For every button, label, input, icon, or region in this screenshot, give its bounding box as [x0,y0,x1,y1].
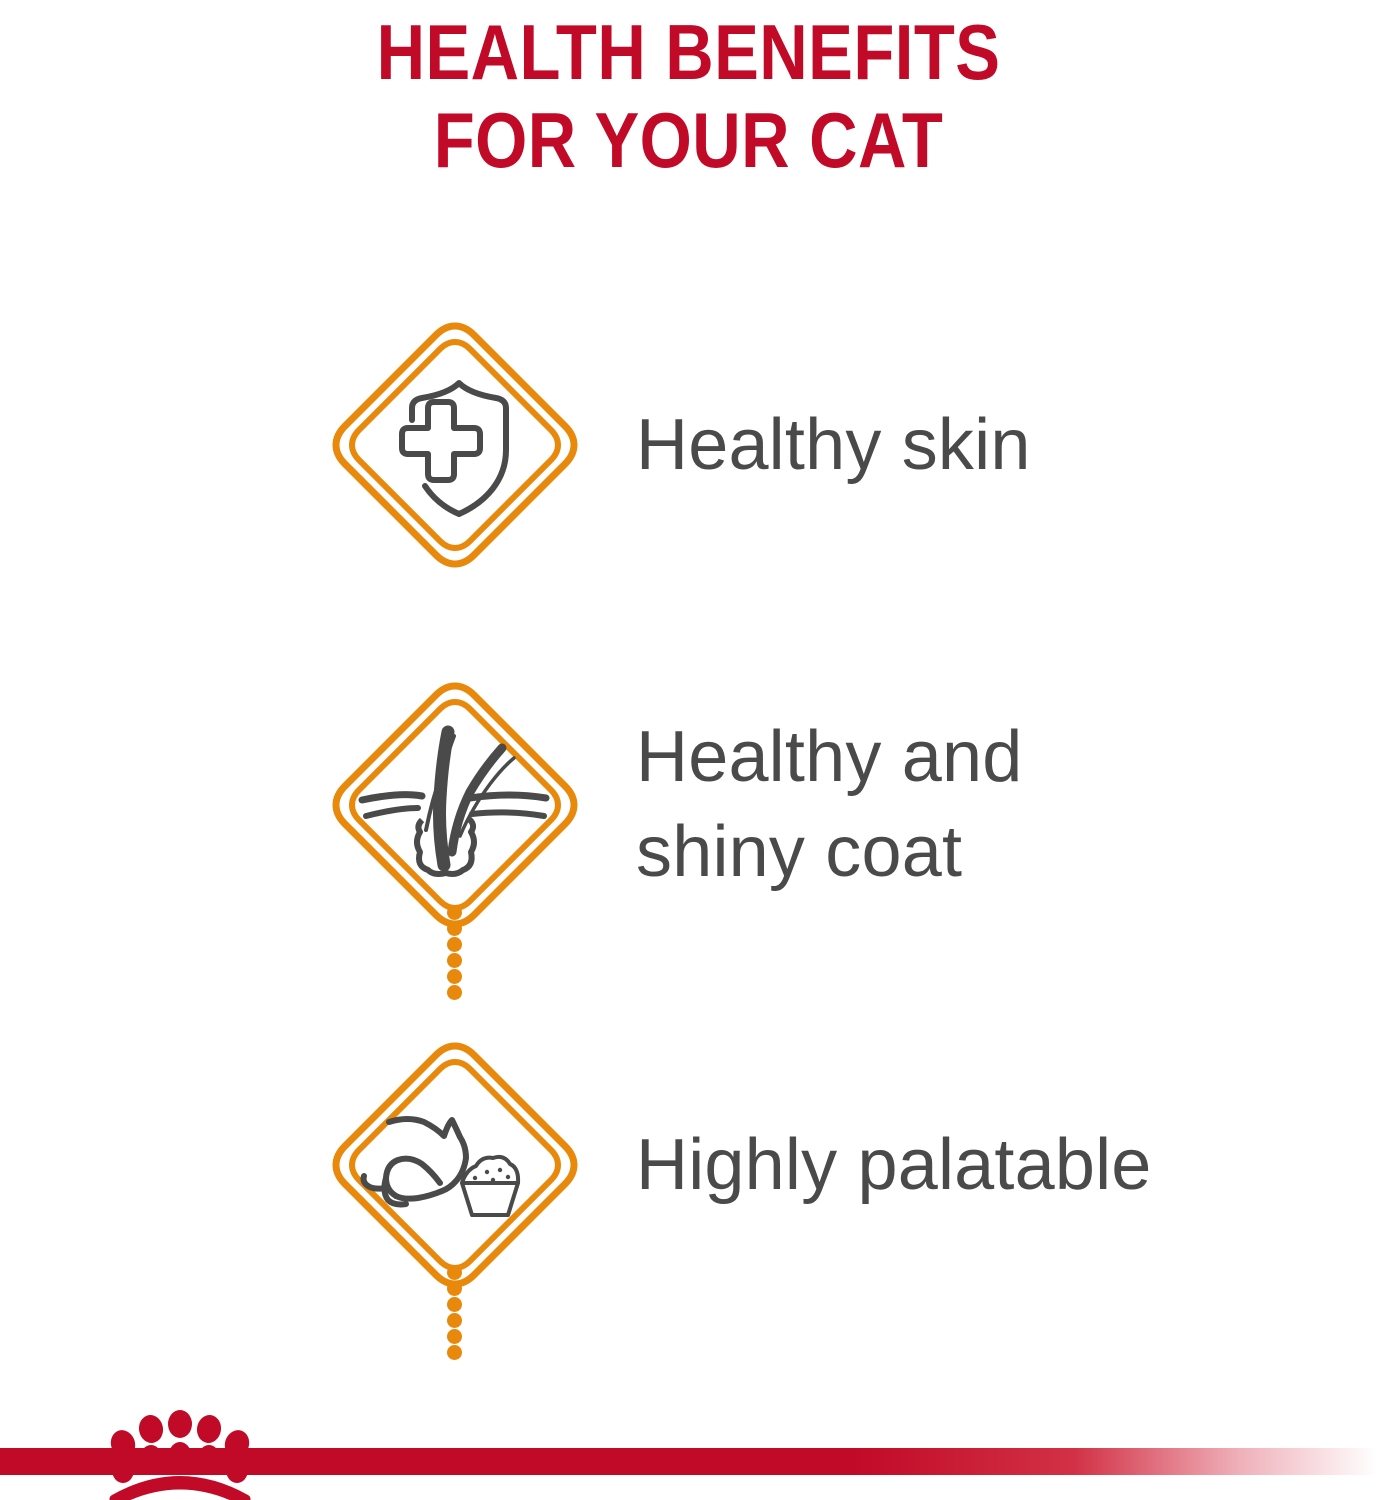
benefit-item: Healthy skin [0,320,1377,570]
royal-canin-crown-logo-icon [98,1400,262,1500]
benefit-item: Highly palatable [0,1040,1377,1290]
page-title-line-2: FOR YOUR CAT [96,96,1280,184]
connector-dots [447,905,463,1000]
benefit-icon-badge [330,1040,580,1290]
connector-dot [447,921,462,936]
connector-dot [447,1265,462,1280]
connector-dot [447,953,462,968]
page-title: HEALTH BENEFITS FOR YOUR CAT [96,0,1280,184]
page-title-line-1: HEALTH BENEFITS [96,8,1280,96]
benefit-label-line-1: Healthy and [636,710,1356,805]
connector-dot [447,905,462,920]
connector-dots [447,1265,463,1360]
benefit-label-line-1: Highly palatable [636,1118,1356,1213]
benefit-label: Healthy skin [636,398,1356,493]
benefit-icon-badge [330,320,580,570]
benefit-label: Healthy and shiny coat [636,710,1356,900]
benefit-label-line-1: Healthy skin [636,398,1356,493]
benefit-label: Highly palatable [636,1118,1356,1213]
connector-dot [447,1329,462,1344]
food-bowl-icon [462,1157,518,1215]
connector-dot [447,969,462,984]
benefit-label-line-2: shiny coat [636,805,1356,900]
footer [0,1380,1377,1500]
connector-dot [447,937,462,952]
connector-dot [447,1345,462,1360]
benefit-icon-badge [330,680,580,930]
connector-dot [447,1297,462,1312]
benefit-item: Healthy and shiny coat [0,680,1377,930]
connector-dot [447,1281,462,1296]
connector-dot [447,1313,462,1328]
connector-dot [447,985,462,1000]
